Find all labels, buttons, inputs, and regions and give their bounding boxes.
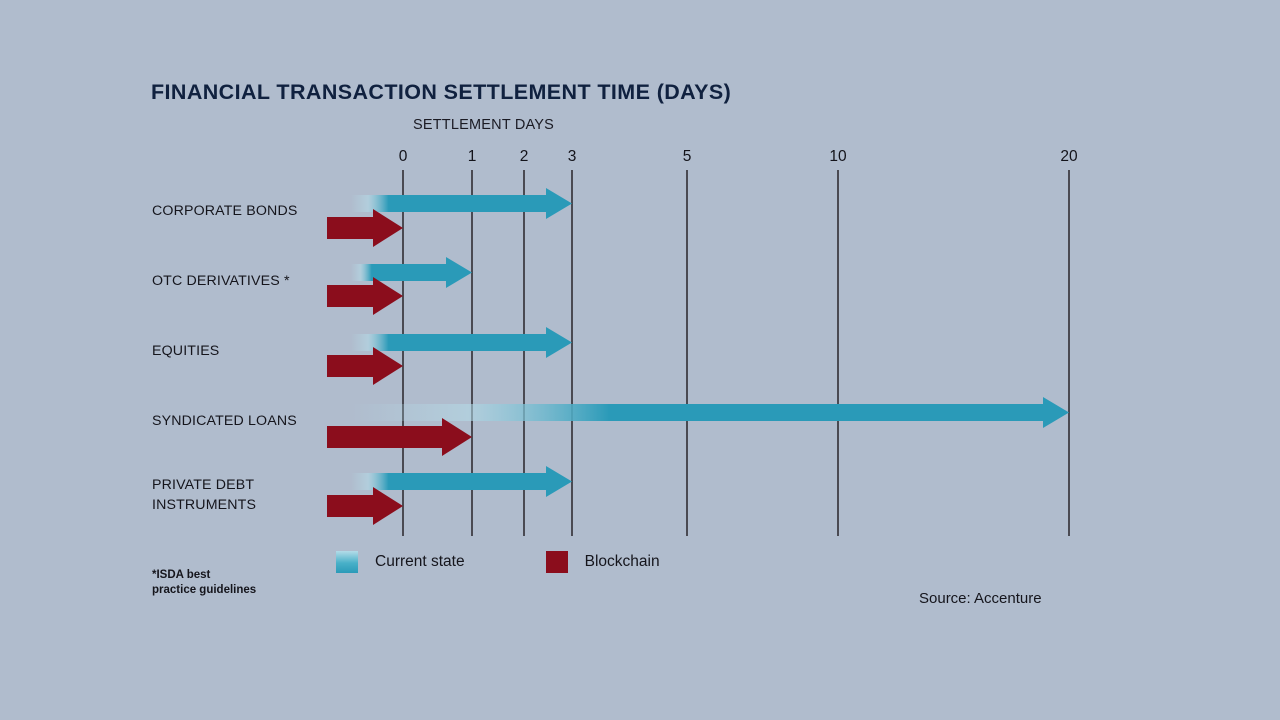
category-label-corporate-bonds: CORPORATE BONDS bbox=[152, 201, 297, 221]
legend-swatch-blockchain bbox=[546, 551, 568, 573]
blockchain-arrow-row-0 bbox=[327, 209, 403, 247]
x-tick-label-10: 10 bbox=[829, 148, 846, 166]
category-label-otc-derivatives: OTC DERIVATIVES * bbox=[152, 271, 290, 291]
legend-item-blockchain[interactable]: Blockchain bbox=[546, 551, 660, 573]
category-label-private-debt-instruments: PRIVATE DEBT INSTRUMENTS bbox=[152, 475, 256, 515]
x-tick-label-3: 3 bbox=[568, 148, 577, 166]
chart-canvas: FINANCIAL TRANSACTION SETTLEMENT TIME (D… bbox=[0, 0, 1280, 720]
legend-item-current-state[interactable]: Current state bbox=[336, 551, 465, 573]
blockchain-arrow-row-2 bbox=[327, 347, 403, 385]
x-tick-label-20: 20 bbox=[1060, 148, 1077, 166]
gridline-10 bbox=[837, 170, 839, 536]
category-label-equities: EQUITIES bbox=[152, 341, 219, 361]
x-tick-label-2: 2 bbox=[520, 148, 529, 166]
gridline-5 bbox=[686, 170, 688, 536]
x-tick-label-0: 0 bbox=[399, 148, 408, 166]
x-tick-label-1: 1 bbox=[468, 148, 477, 166]
source-attribution: Source: Accenture bbox=[919, 590, 1042, 607]
legend-swatch-current-state bbox=[336, 551, 358, 573]
legend: Current state Blockchain bbox=[336, 551, 660, 573]
gridline-20 bbox=[1068, 170, 1070, 536]
blockchain-arrow-row-1 bbox=[327, 277, 403, 315]
legend-label-blockchain: Blockchain bbox=[585, 553, 660, 571]
blockchain-arrow-row-3 bbox=[327, 418, 472, 456]
blockchain-arrow-row-4 bbox=[327, 487, 403, 525]
category-label-syndicated-loans: SYNDICATED LOANS bbox=[152, 411, 297, 431]
x-tick-label-5: 5 bbox=[683, 148, 692, 166]
legend-label-current-state: Current state bbox=[375, 553, 465, 571]
footnote-isda: *ISDA best practice guidelines bbox=[152, 568, 256, 598]
